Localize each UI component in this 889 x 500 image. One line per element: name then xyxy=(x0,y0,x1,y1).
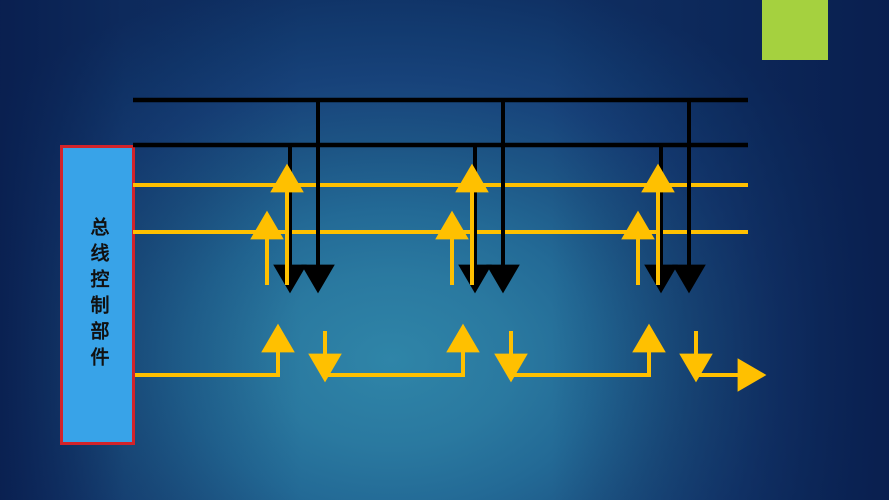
bg-chain-io0-to-io1 xyxy=(325,331,463,375)
bus-diagram-svg xyxy=(0,0,889,500)
bg-chain-io1-to-io2 xyxy=(511,331,649,375)
bg-chain-from-control xyxy=(135,338,278,375)
slide-canvas: 总线控制部件 I/O接口0 I/O接口1 I/O接口n BS BR BG 数据线… xyxy=(0,0,889,500)
bg-chain-io2-out xyxy=(696,331,752,375)
